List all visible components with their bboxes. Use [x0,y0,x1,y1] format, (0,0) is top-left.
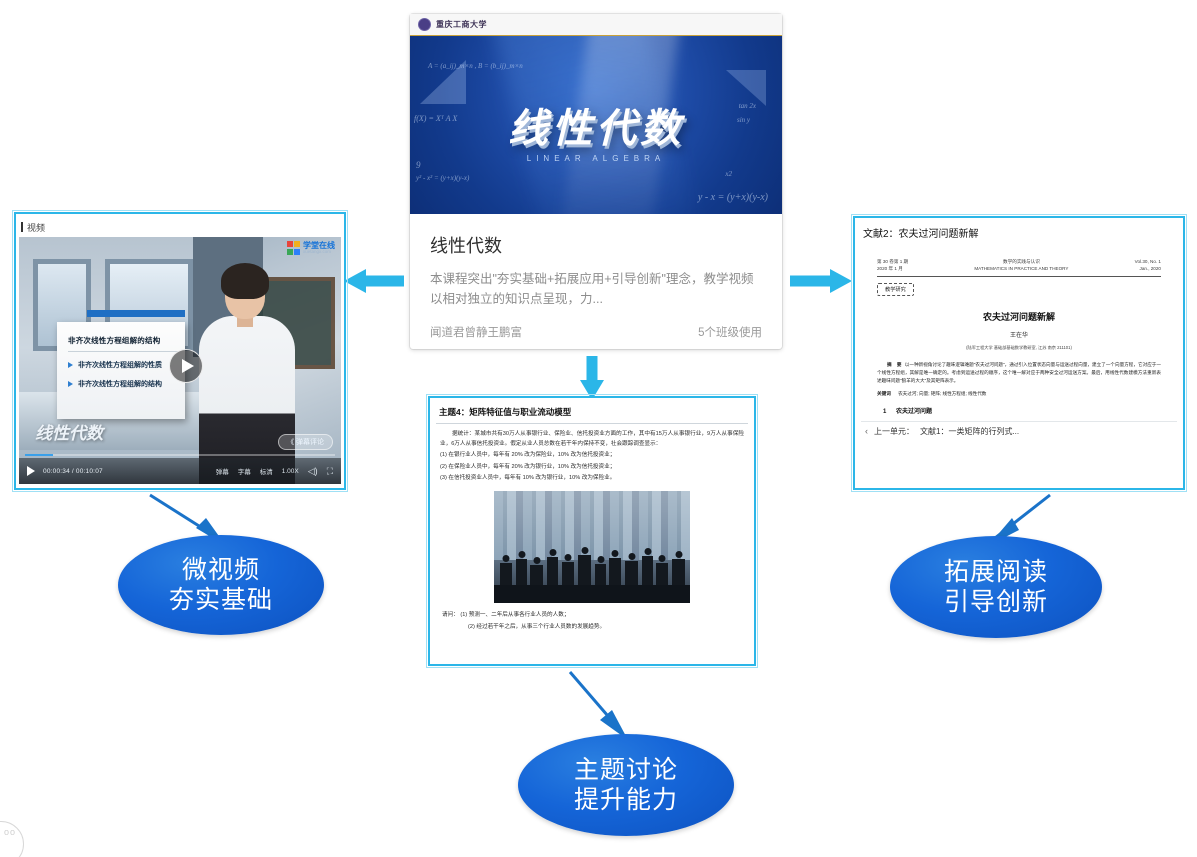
topic-title: 主题4：矩阵特征值与职业流动模型 [436,403,748,424]
paper-category-tag: 教学研究 [877,283,914,296]
callout-micro-video: 微视频 夯实基础 [118,535,324,635]
course-teachers: 闻道君曾静王鹏富 [430,324,522,340]
course-meta: 闻道君曾静王鹏富 5个班级使用 [430,324,762,340]
paper-preview: 第 30 卷第 1 期 2020 年 1 月 数学的实践与认识 MATHEMAT… [867,248,1171,415]
instructor-hair [221,263,269,299]
watermark-subtitle: xuetangx.com [303,250,335,255]
callout-right-line2: 引导创新 [944,587,1048,618]
topic-discussion-card[interactable]: 主题4：矩阵特征值与职业流动模型 据统计：某城市共有30万人从事银行业、保险业、… [428,396,756,666]
arrow-course-to-literature [790,269,852,293]
previous-unit-value: 文献1：一类矩阵的行列式... [920,426,1019,437]
bullet-triangle-icon [68,381,73,387]
topic-paragraph-2: (1) 在银行业人员中，每年有 20% 改为保险业，10% 改为信托投资业； [440,451,744,461]
callout-topic-discussion: 主题讨论 提升能力 [518,734,734,836]
slide-title: 非齐次线性方程组解的结构 [68,335,179,352]
slide-bullet-2-label: 非齐次线性方程组解的结构 [78,379,162,389]
journal-volume: 第 30 卷第 1 期 [877,258,908,265]
banner-formula-4: y - x = (y+x)(y-x) [698,192,768,203]
bullet-triangle-icon [68,362,73,368]
previous-unit-label: 上一单元： [874,426,914,437]
topic-paragraph-1: 据统计：某城市共有30万人从事银行业、保险业、信托投资业方面的工作，其中有15万… [440,430,744,449]
banner-title: 线性代数 [410,96,782,154]
course-banner: A = (a_ij)_m×n , B = (b_ij)_m×n f(X) = X… [410,36,782,214]
journal-date: 2020 年 1 月 [877,265,908,272]
course-wordmark: 线性代数 [35,419,103,444]
arrow-course-to-topic [580,356,604,400]
section-marker-icon [21,222,23,232]
previous-unit-link[interactable]: ‹ 上一单元： 文献1：一类矩阵的行列式... [861,421,1177,437]
quality-selector[interactable]: 标清 [260,466,273,476]
callout-left-line2: 夯实基础 [169,585,273,616]
literature-card[interactable]: 文献2：农夫过河问题新解 第 30 卷第 1 期 2020 年 1 月 数学的实… [853,216,1185,490]
slide-canvas: 视频 学堂在线 xuetangx.com [0,0,1197,857]
topic-footer: 请问： (1) 预测一、二年后从事各行业人员的人数； (2) 经过若干年之后，从… [436,603,748,632]
paper-title: 农夫过河问题新解 [877,310,1161,323]
abstract-label: 摘 要 [887,362,903,367]
abstract-text: 以一种新视角讨论了趣味逻辑难题"农夫过河问题"，通过引入位置状态向量与运送过程向… [877,362,1161,383]
literature-title: 文献2：农夫过河问题新解 [861,222,1177,246]
callout-left-line1: 微视频 [169,555,273,586]
topic-question-1: 请问： (1) 预测一、二年后从事各行业人员的人数； [442,611,742,621]
journal-volume-en: Vol.30, No. 1 [1135,258,1161,265]
callout-right-line1: 拓展阅读 [944,557,1048,588]
corner-dots-icon: oo [4,827,16,837]
journal-header: 第 30 卷第 1 期 2020 年 1 月 数学的实践与认识 MATHEMAT… [877,258,1161,277]
xuetangx-logo-icon [287,241,301,255]
topic-body: 据统计：某城市共有30万人从事银行业、保险业、信托投资业方面的工作，其中有15万… [436,424,748,603]
journal-date-en: Jan., 2020 [1135,265,1161,272]
play-pause-icon[interactable] [27,466,35,476]
video-player[interactable]: 学堂在线 xuetangx.com 非齐次线性方程组解的结构 非齐次线性方程组解… [19,237,341,484]
slide-accent-bar [87,310,185,317]
image-ground [494,585,690,603]
video-card[interactable]: 视频 学堂在线 xuetangx.com [14,212,346,490]
silhouette-crowd-image [494,491,690,603]
paper-abstract: 摘 要 以一种新视角讨论了趣味逻辑难题"农夫过河问题"，通过引入位置状态向量与运… [877,361,1161,385]
slide-bullet-2: 非齐次线性方程组解的结构 [68,379,179,389]
video-progress-bar[interactable] [25,454,335,456]
play-overlay-button[interactable] [169,349,203,383]
arrow-topic-to-callout-center [570,672,628,740]
callout-extended-reading: 拓展阅读 引导创新 [890,536,1102,638]
topic-paragraph-3: (2) 在保险业人员中，每年有 20% 改为银行业，10% 改为信托投资业； [440,463,744,473]
paper-section-heading: 1 农夫过河问题 [877,406,1161,415]
arrow-course-to-video [344,269,404,293]
paper-author: 王在华 [877,330,1161,339]
paper-affiliation: (陆军工程大学 基础部基础数学教研室, 江苏 南京 211101) [877,345,1161,351]
video-timestamp: 00:00:34 / 00:10:07 [43,468,103,475]
topic-paragraph-4: (3) 在信托投资业人员中，每年有 10% 改为银行业，10% 改为保险业。 [440,474,744,484]
course-description: 本课程突出"夯实基础+拓展应用+引导创新"理念，教学视频以相对独立的知识点呈现，… [430,269,762,310]
play-icon [182,359,194,373]
lecture-slide-overlay: 非齐次线性方程组解的结构 非齐次线性方程组解的性质 非齐次线性方程组解的结构 [57,322,185,419]
danmu-toggle[interactable]: 弹幕 [216,466,229,476]
keywords-label: 关键词 [877,391,891,396]
course-card[interactable]: 重庆工商大学 A = (a_ij)_m×n , B = (b_ij)_m×n f… [410,14,782,349]
course-info: 线性代数 本课程突出"夯实基础+拓展应用+引导创新"理念，教学视频以相对独立的知… [410,214,782,340]
fullscreen-icon[interactable]: ⛶ [327,467,333,476]
journal-name-cn: 数学的实践与认识 [974,258,1068,265]
university-bar: 重庆工商大学 [410,14,782,36]
slide-bullet-1-label: 非齐次线性方程组解的性质 [78,360,162,370]
keywords-text: 农夫过河; 向量; 矩阵; 线性方程组; 线性代数 [898,391,986,396]
callout-center-line2: 提升能力 [574,785,678,816]
section-title: 农夫过河问题 [896,409,932,415]
banner-formula-7: x2 [725,170,732,178]
section-number: 1 [883,409,886,415]
video-card-header: 视频 [19,217,341,237]
subtitle-toggle[interactable]: 字幕 [238,466,251,476]
danmu-comment-button[interactable]: 《 弹幕评论 [278,434,333,450]
course-usage-count: 5个班级使用 [698,324,762,340]
university-name: 重庆工商大学 [436,19,487,30]
chevron-left-icon: ‹ [865,426,868,436]
journal-name-en: MATHEMATICS IN PRACTICE AND THEORY [974,265,1068,272]
xuetangx-watermark: 学堂在线 xuetangx.com [287,241,336,255]
banner-formula-3: y² - x² = (y+x)(y-x) [416,174,469,182]
speed-selector[interactable]: 1.00X [282,468,299,475]
paper-keywords: 关键词 农夫过河; 向量; 矩阵; 线性方程组; 线性代数 [877,391,1161,397]
slide-bullet-1: 非齐次线性方程组解的性质 [68,360,179,370]
topic-question-2: (2) 经过若干年之后，从事三个行业人员数的发展趋势。 [442,623,742,633]
university-seal-icon [418,18,431,31]
volume-icon[interactable]: ◁) [308,467,318,476]
callout-center-line1: 主题讨论 [574,755,678,786]
video-section-label: 视频 [27,221,45,234]
course-title: 线性代数 [430,232,762,258]
video-control-bar[interactable]: 00:00:34 / 00:10:07 弹幕 字幕 标清 1.00X ◁) ⛶ [19,458,341,484]
banner-subtitle: LINEAR ALGEBRA [410,154,782,163]
